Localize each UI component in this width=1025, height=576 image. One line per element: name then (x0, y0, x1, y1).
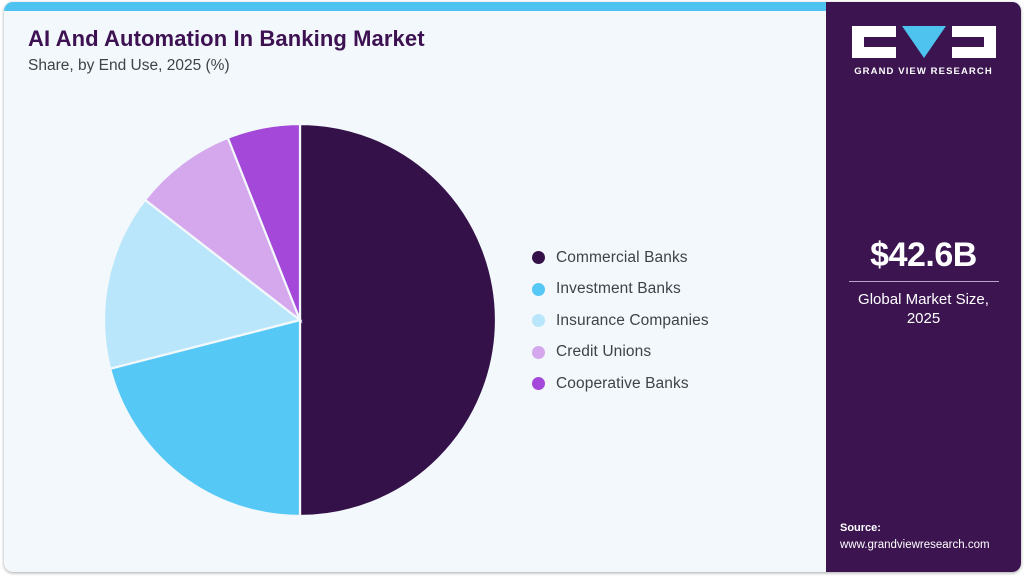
legend-swatch-icon (532, 346, 545, 359)
legend-item[interactable]: Investment Banks (532, 274, 709, 306)
legend-label: Insurance Companies (556, 312, 709, 330)
pie-slice[interactable] (300, 124, 496, 516)
legend-label: Credit Unions (556, 343, 651, 361)
legend-swatch-icon (532, 251, 545, 264)
legend-label: Investment Banks (556, 280, 681, 298)
pie-slices (104, 124, 496, 516)
logo-wordmark: GRAND VIEW RESEARCH (826, 66, 1021, 77)
legend-swatch-icon (532, 314, 545, 327)
chart-legend: Commercial BanksInvestment BanksInsuranc… (532, 242, 709, 400)
stat-value: $42.6B (826, 238, 1021, 274)
logo-triangle-icon (902, 26, 946, 58)
source-label: Source: (840, 520, 1018, 537)
header: AI And Automation In Banking Market Shar… (28, 26, 788, 76)
source-block: Source: www.grandviewresearch.com (840, 520, 1018, 554)
logo-c-right-icon (952, 26, 996, 58)
chart-subtitle: Share, by End Use, 2025 (%) (28, 57, 788, 76)
chart-card: AI And Automation In Banking Market Shar… (4, 2, 1021, 572)
brand-logo: GRAND VIEW RESEARCH (826, 26, 1021, 77)
legend-swatch-icon (532, 283, 545, 296)
stat-divider (849, 281, 999, 282)
market-size-stat: $42.6B Global Market Size, 2025 (826, 238, 1021, 329)
side-panel: GRAND VIEW RESEARCH $42.6B Global Market… (826, 2, 1021, 572)
source-url: www.grandviewresearch.com (840, 537, 1018, 554)
legend-item[interactable]: Cooperative Banks (532, 368, 709, 400)
legend-label: Commercial Banks (556, 249, 688, 267)
pie-chart-svg (100, 120, 500, 520)
logo-marks (826, 26, 1021, 58)
pie-chart (100, 120, 500, 520)
legend-item[interactable]: Commercial Banks (532, 242, 709, 274)
logo-c-left-icon (852, 26, 896, 58)
legend-item[interactable]: Credit Unions (532, 337, 709, 369)
legend-label: Cooperative Banks (556, 375, 689, 393)
legend-item[interactable]: Insurance Companies (532, 305, 709, 337)
legend-swatch-icon (532, 377, 545, 390)
stat-caption: Global Market Size, 2025 (826, 290, 1021, 329)
page-title: AI And Automation In Banking Market (28, 26, 788, 51)
